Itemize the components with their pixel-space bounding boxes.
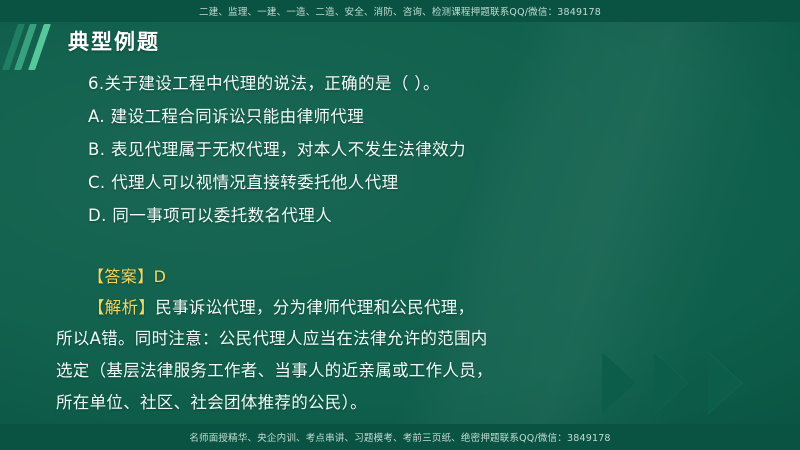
chevron-arrows-icon xyxy=(596,352,786,414)
question-stem: 6.关于建设工程中代理的说法，正确的是（ ）。 xyxy=(0,68,800,100)
page-title: 典型例题 xyxy=(68,26,160,56)
slide-canvas: 二建、监理、一建、一造、二造、安全、消防、咨询、检测课程押题联系QQ/微信：38… xyxy=(0,0,800,450)
top-banner: 二建、监理、一建、一造、二造、安全、消防、咨询、检测课程押题联系QQ/微信：38… xyxy=(0,0,800,22)
answer-row: 【答案】D xyxy=(0,262,800,292)
option-d[interactable]: D. 同一事项可以委托数名代理人 xyxy=(0,199,800,232)
top-banner-text: 二建、监理、一建、一造、二造、安全、消防、咨询、检测课程押题联系QQ/微信：38… xyxy=(199,4,601,18)
content-spacer xyxy=(0,232,800,262)
chevron-right-icon-2 xyxy=(654,352,688,414)
option-b[interactable]: B. 表见代理属于无权代理，对本人不发生法律效力 xyxy=(0,133,800,166)
analysis-text-line-1: 民事诉讼代理，分为律师代理和公民代理， xyxy=(155,298,474,317)
option-c[interactable]: C. 代理人可以视情况直接转委托他人代理 xyxy=(0,166,800,199)
bottom-banner-text: 名师面授精华、央企内训、考点串讲、习题模考、考前三页纸、绝密押题联系QQ/微信：… xyxy=(189,430,610,444)
analysis-text-line-2: 所以A错。同时注意：公民代理人应当在法律允许的范围内 xyxy=(0,323,800,355)
analysis-row-1: 【解析】民事诉讼代理，分为律师代理和公民代理， xyxy=(0,292,800,323)
chevron-right-icon-1 xyxy=(602,352,636,414)
option-a[interactable]: A. 建设工程合同诉讼只能由律师代理 xyxy=(0,100,800,133)
title-row: 典型例题 xyxy=(0,22,800,64)
diagonal-slashes-icon xyxy=(6,24,62,70)
chevron-right-icon-3 xyxy=(708,352,742,414)
analysis-label: 【解析】 xyxy=(88,298,155,317)
bottom-banner: 名师面授精华、央企内训、考点串讲、习题模考、考前三页纸、绝密押题联系QQ/微信：… xyxy=(0,424,800,450)
